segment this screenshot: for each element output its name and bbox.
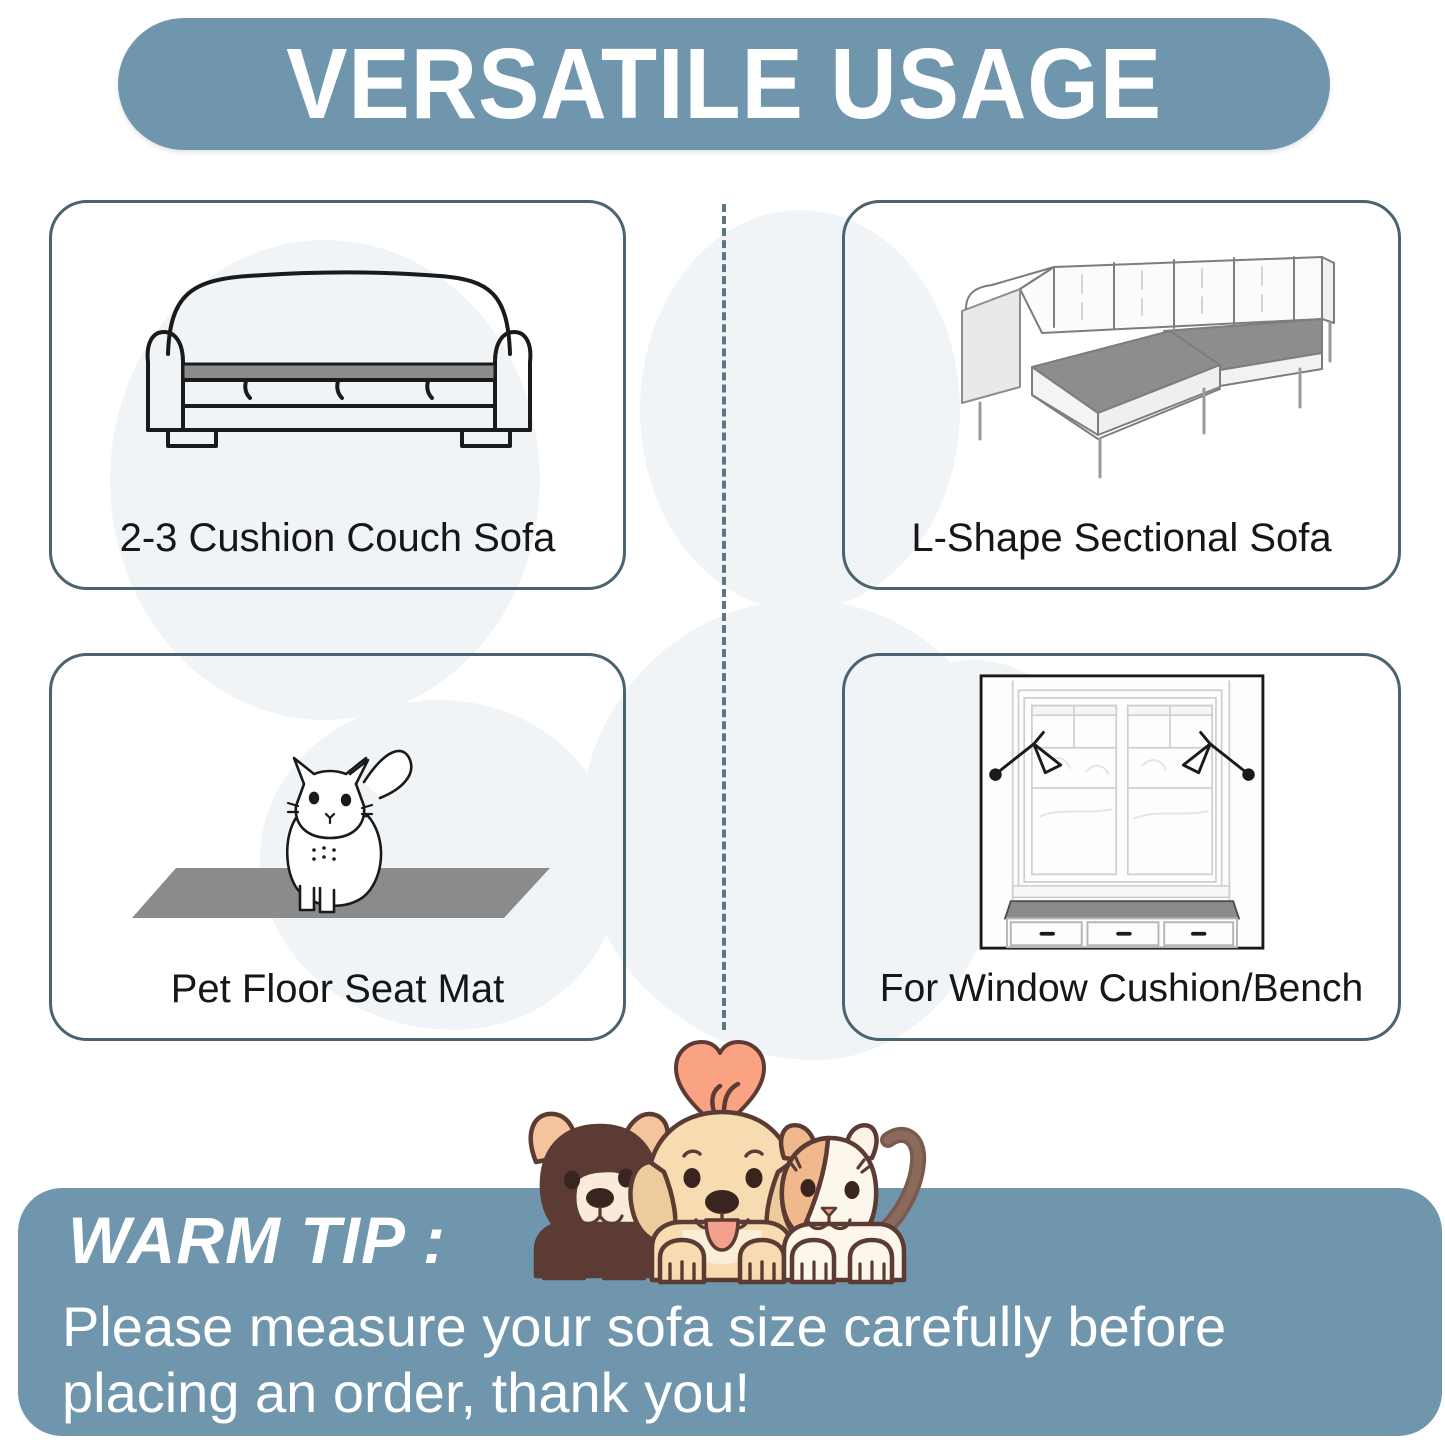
usage-card-window-bench[interactable]: For Window Cushion/Bench [842,653,1401,1041]
pets-group-icon [500,1012,940,1302]
usage-card-label: L-Shape Sectional Sofa [845,515,1398,587]
infographic-page: VERSATILE USAGE [0,0,1445,1447]
header-banner: VERSATILE USAGE [118,18,1330,150]
warm-tip-line-2: placing an order, thank you! [62,1360,1412,1426]
warm-tip-heading: WARM TIP : [68,1204,446,1277]
page-title: VERSATILE USAGE [286,34,1162,134]
usage-card-l-shape-sofa[interactable]: L-Shape Sectional Sofa [842,200,1401,590]
dashed-divider [722,204,726,1030]
warm-tip-line-1: Please measure your sofa size carefully … [62,1294,1412,1360]
usage-card-couch-sofa[interactable]: 2-3 Cushion Couch Sofa [49,200,626,590]
warm-tip-body: Please measure your sofa size carefully … [62,1294,1412,1426]
cat-on-mat-icon [52,656,623,966]
l-shape-sectional-sofa-icon [845,203,1398,515]
usage-card-pet-floor-mat[interactable]: Pet Floor Seat Mat [49,653,626,1041]
usage-card-label: 2-3 Cushion Couch Sofa [52,515,623,587]
window-bench-icon [845,656,1398,967]
couch-sofa-icon [52,203,623,515]
